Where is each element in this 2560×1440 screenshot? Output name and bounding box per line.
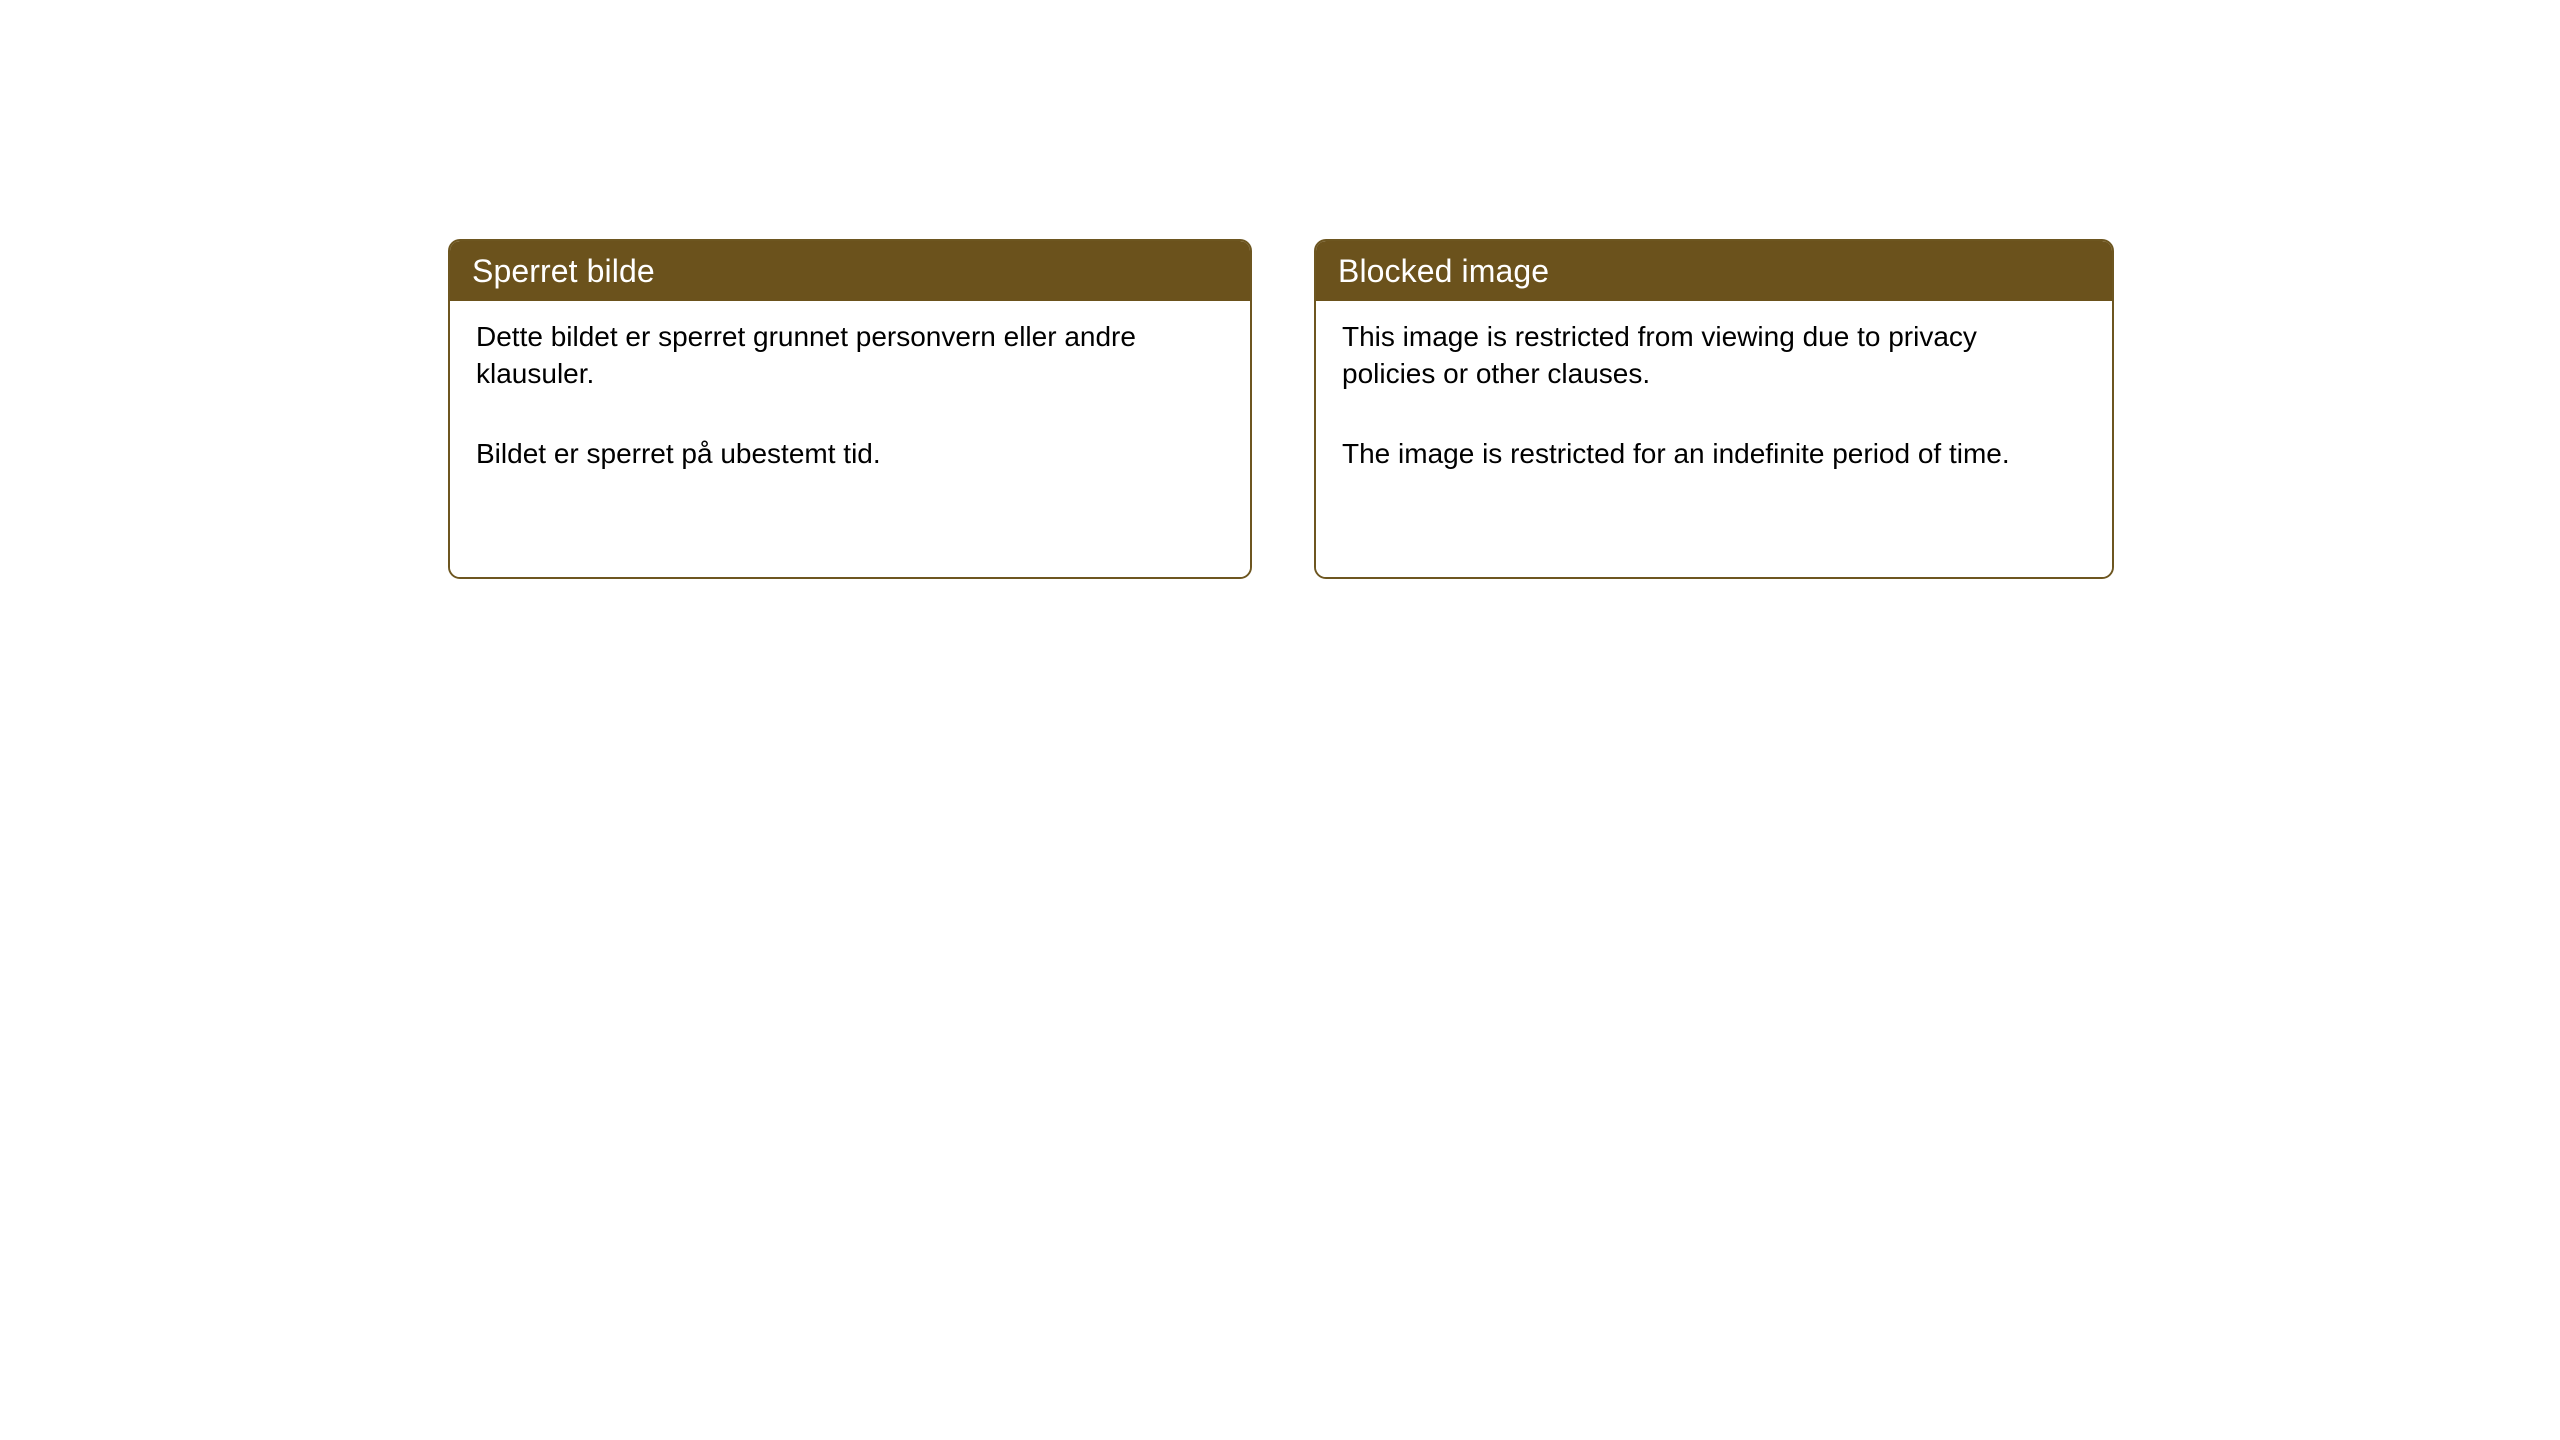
panel-paragraph-reason-norwegian: Dette bildet er sperret grunnet personve… bbox=[476, 319, 1176, 392]
panel-paragraph-duration-english: The image is restricted for an indefinit… bbox=[1342, 436, 2062, 473]
page-canvas: Sperret bilde Dette bildet er sperret gr… bbox=[0, 0, 2560, 1440]
blocked-image-notice-group: Sperret bilde Dette bildet er sperret gr… bbox=[448, 239, 2114, 579]
panel-title-norwegian: Sperret bilde bbox=[472, 255, 655, 287]
panel-title-english: Blocked image bbox=[1338, 255, 1549, 287]
panel-header-norwegian: Sperret bilde bbox=[450, 241, 1250, 301]
panel-paragraph-duration-norwegian: Bildet er sperret på ubestemt tid. bbox=[476, 436, 1176, 473]
blocked-image-panel-norwegian: Sperret bilde Dette bildet er sperret gr… bbox=[448, 239, 1252, 579]
panel-body-english: This image is restricted from viewing du… bbox=[1316, 301, 2112, 577]
blocked-image-panel-english: Blocked image This image is restricted f… bbox=[1314, 239, 2114, 579]
panel-body-norwegian: Dette bildet er sperret grunnet personve… bbox=[450, 301, 1250, 577]
panel-paragraph-reason-english: This image is restricted from viewing du… bbox=[1342, 319, 2062, 392]
panel-header-english: Blocked image bbox=[1316, 241, 2112, 301]
